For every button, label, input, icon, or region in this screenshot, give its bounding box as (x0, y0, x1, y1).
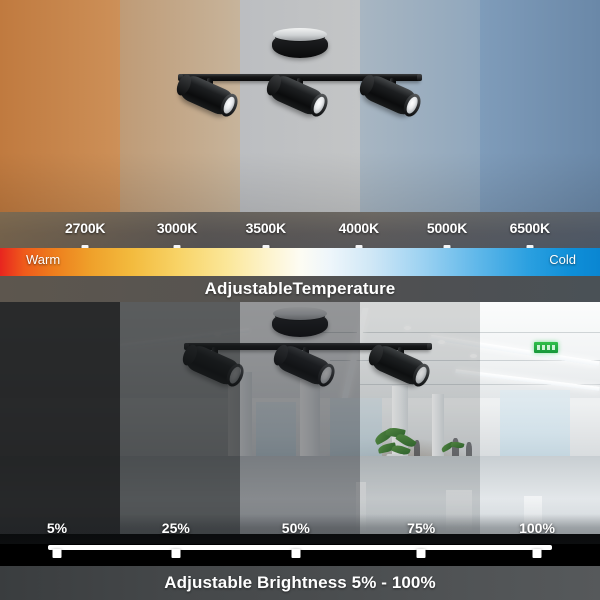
kelvin-label-6500k: 6500K (510, 220, 550, 236)
brightness-caption-text: Adjustable Brightness 5% - 100% (164, 573, 435, 593)
temperature-caption-text: AdjustableTemperature (205, 279, 396, 299)
brightness-scene (0, 302, 600, 534)
brightness-tick-5 (53, 549, 62, 558)
track-bar-cap-right (417, 74, 422, 81)
brightness-band-75 (360, 302, 480, 534)
temperature-caption-band: AdjustableTemperature (0, 276, 600, 302)
brightness-scale: 5% 25% 50% 75% 100% (0, 520, 600, 566)
cold-label: Cold (549, 252, 576, 267)
warm-label: Warm (26, 252, 60, 267)
temperature-scene (0, 0, 600, 212)
spotlight-head-back-1 (174, 73, 194, 98)
kelvin-label-4000k: 4000K (339, 220, 379, 236)
kelvin-label-5000k: 5000K (427, 220, 467, 236)
brightness-label-75: 75% (407, 520, 435, 536)
track-light-fixture-top (0, 0, 600, 212)
kelvin-label-3500k: 3500K (246, 220, 286, 236)
product-infographic: 2700K 3000K 3500K 4000K 5000K 6500K Warm… (0, 0, 600, 600)
brightness-tick-50 (291, 549, 300, 558)
canopy-top-plate (273, 28, 327, 41)
brightness-band-25 (120, 302, 240, 534)
brightness-dim-bands (0, 302, 600, 534)
brightness-tick-75 (417, 549, 426, 558)
brightness-tick-100 (533, 549, 542, 558)
brightness-label-50: 50% (282, 520, 310, 536)
brightness-tick-25 (171, 549, 180, 558)
brightness-label-100: 100% (519, 520, 555, 536)
kelvin-label-3000k: 3000K (157, 220, 197, 236)
brightness-band-100 (480, 302, 600, 534)
brightness-label-25: 25% (162, 520, 190, 536)
brightness-band-5 (0, 302, 120, 534)
ceiling-canopy (272, 32, 328, 58)
kelvin-label-2700k: 2700K (65, 220, 105, 236)
brightness-label-5: 5% (47, 520, 67, 536)
warm-cold-gradient-bar: Warm Cold (0, 248, 600, 276)
brightness-band-50 (240, 302, 360, 534)
brightness-caption-band: Adjustable Brightness 5% - 100% (0, 566, 600, 600)
